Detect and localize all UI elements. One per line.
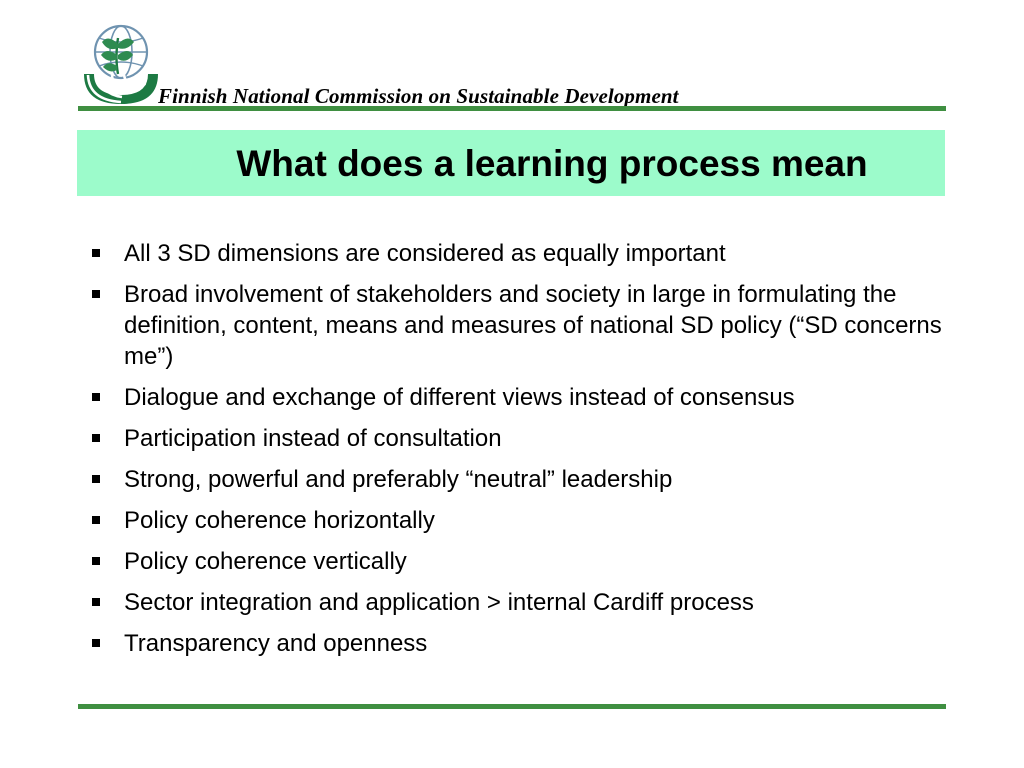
square-bullet-icon — [92, 639, 100, 647]
list-item: Sector integration and application > int… — [88, 587, 948, 618]
list-item: Policy coherence vertically — [88, 546, 948, 577]
page-title: What does a learning process mean — [172, 144, 932, 184]
square-bullet-icon — [92, 475, 100, 483]
list-item-text: Participation instead of consultation — [124, 423, 948, 454]
square-bullet-icon — [92, 516, 100, 524]
square-bullet-icon — [92, 434, 100, 442]
list-item-text: All 3 SD dimensions are considered as eq… — [124, 238, 948, 269]
list-item-text: Policy coherence vertically — [124, 546, 948, 577]
list-item-text: Dialogue and exchange of different views… — [124, 382, 948, 413]
footer-divider-rule — [78, 704, 946, 709]
list-item: Strong, powerful and preferably “neutral… — [88, 464, 948, 495]
list-item-text: Policy coherence horizontally — [124, 505, 948, 536]
list-item: Dialogue and exchange of different views… — [88, 382, 948, 413]
square-bullet-icon — [92, 249, 100, 257]
list-item: Policy coherence horizontally — [88, 505, 948, 536]
list-item-text: Broad involvement of stakeholders and so… — [124, 279, 948, 372]
presentation-slide: Finnish National Commission on Sustainab… — [0, 0, 1024, 768]
list-item-text: Sector integration and application > int… — [124, 587, 948, 618]
square-bullet-icon — [92, 598, 100, 606]
square-bullet-icon — [92, 557, 100, 565]
list-item: Transparency and openness — [88, 628, 948, 659]
slide-title-band: What does a learning process mean — [77, 130, 945, 196]
square-bullet-icon — [92, 393, 100, 401]
list-item: Broad involvement of stakeholders and so… — [88, 279, 948, 372]
list-item: All 3 SD dimensions are considered as eq… — [88, 238, 948, 269]
square-bullet-icon — [92, 290, 100, 298]
list-item-text: Strong, powerful and preferably “neutral… — [124, 464, 948, 495]
bullet-list: All 3 SD dimensions are considered as eq… — [88, 238, 948, 669]
globe-with-leaf-in-hand-logo-icon — [78, 22, 164, 106]
header-divider-rule — [78, 106, 946, 111]
list-item-text: Transparency and openness — [124, 628, 948, 659]
list-item: Participation instead of consultation — [88, 423, 948, 454]
